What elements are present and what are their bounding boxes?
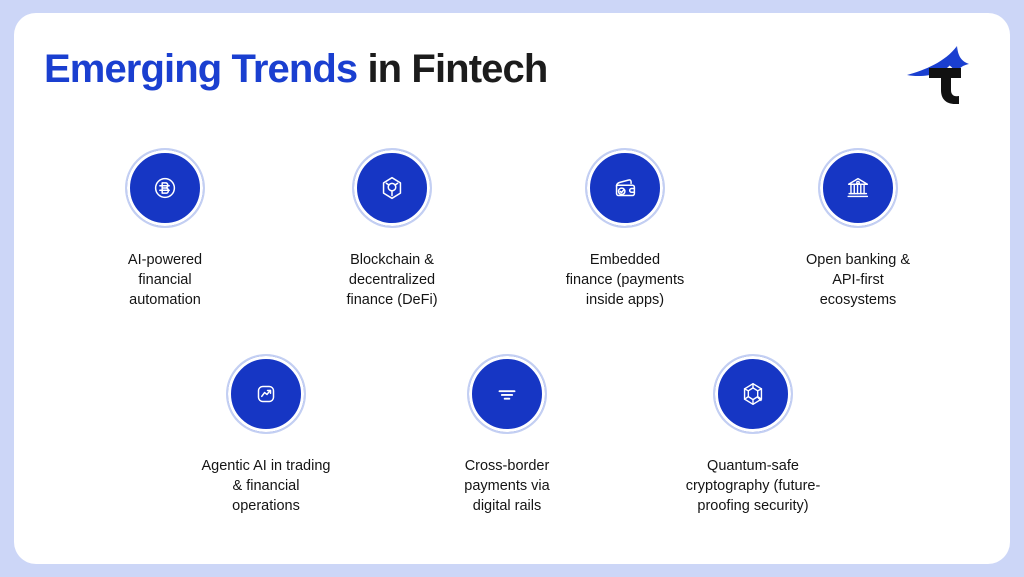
trend-item-blockchain-defi[interactable]: Blockchain & decentralized finance (DeFi… [297,148,487,310]
trend-item-agentic-ai-trading[interactable]: Agentic AI in trading & financial operat… [171,354,361,516]
page-title-rest: in Fintech [357,47,547,91]
trend-label: Agentic AI in trading & financial operat… [171,456,361,516]
blockchain-node-icon [352,148,432,228]
wallet-check-icon [585,148,665,228]
trend-item-ai-powered-finance[interactable]: AI-powered financial automation [70,148,260,310]
trend-label: Open banking & API-first ecosystems [763,250,953,310]
trend-label: Blockchain & decentralized finance (DeFi… [297,250,487,310]
trend-label: AI-powered financial automation [70,250,260,310]
bank-building-icon [818,148,898,228]
trend-item-quantum-safe-crypto[interactable]: Quantum-safe cryptography (future- proof… [658,354,848,516]
page-title: Emerging Trends in Fintech [44,47,547,92]
trend-item-cross-border-payments[interactable]: Cross-border payments via digital rails [412,354,602,516]
crypto-coin-icon [125,148,205,228]
transfer-rails-icon [467,354,547,434]
tau-star-logo [905,42,977,104]
page-title-accent: Emerging Trends [44,47,357,91]
quantum-gem-icon [713,354,793,434]
trend-label: Embedded finance (payments inside apps) [530,250,720,310]
trend-item-open-banking[interactable]: Open banking & API-first ecosystems [763,148,953,310]
trend-label: Quantum-safe cryptography (future- proof… [658,456,848,516]
trend-chart-icon [226,354,306,434]
trend-label: Cross-border payments via digital rails [412,456,602,516]
slide-card: Emerging Trends in Fintech AI-powered fi… [14,13,1010,564]
trend-item-embedded-finance[interactable]: Embedded finance (payments inside apps) [530,148,720,310]
